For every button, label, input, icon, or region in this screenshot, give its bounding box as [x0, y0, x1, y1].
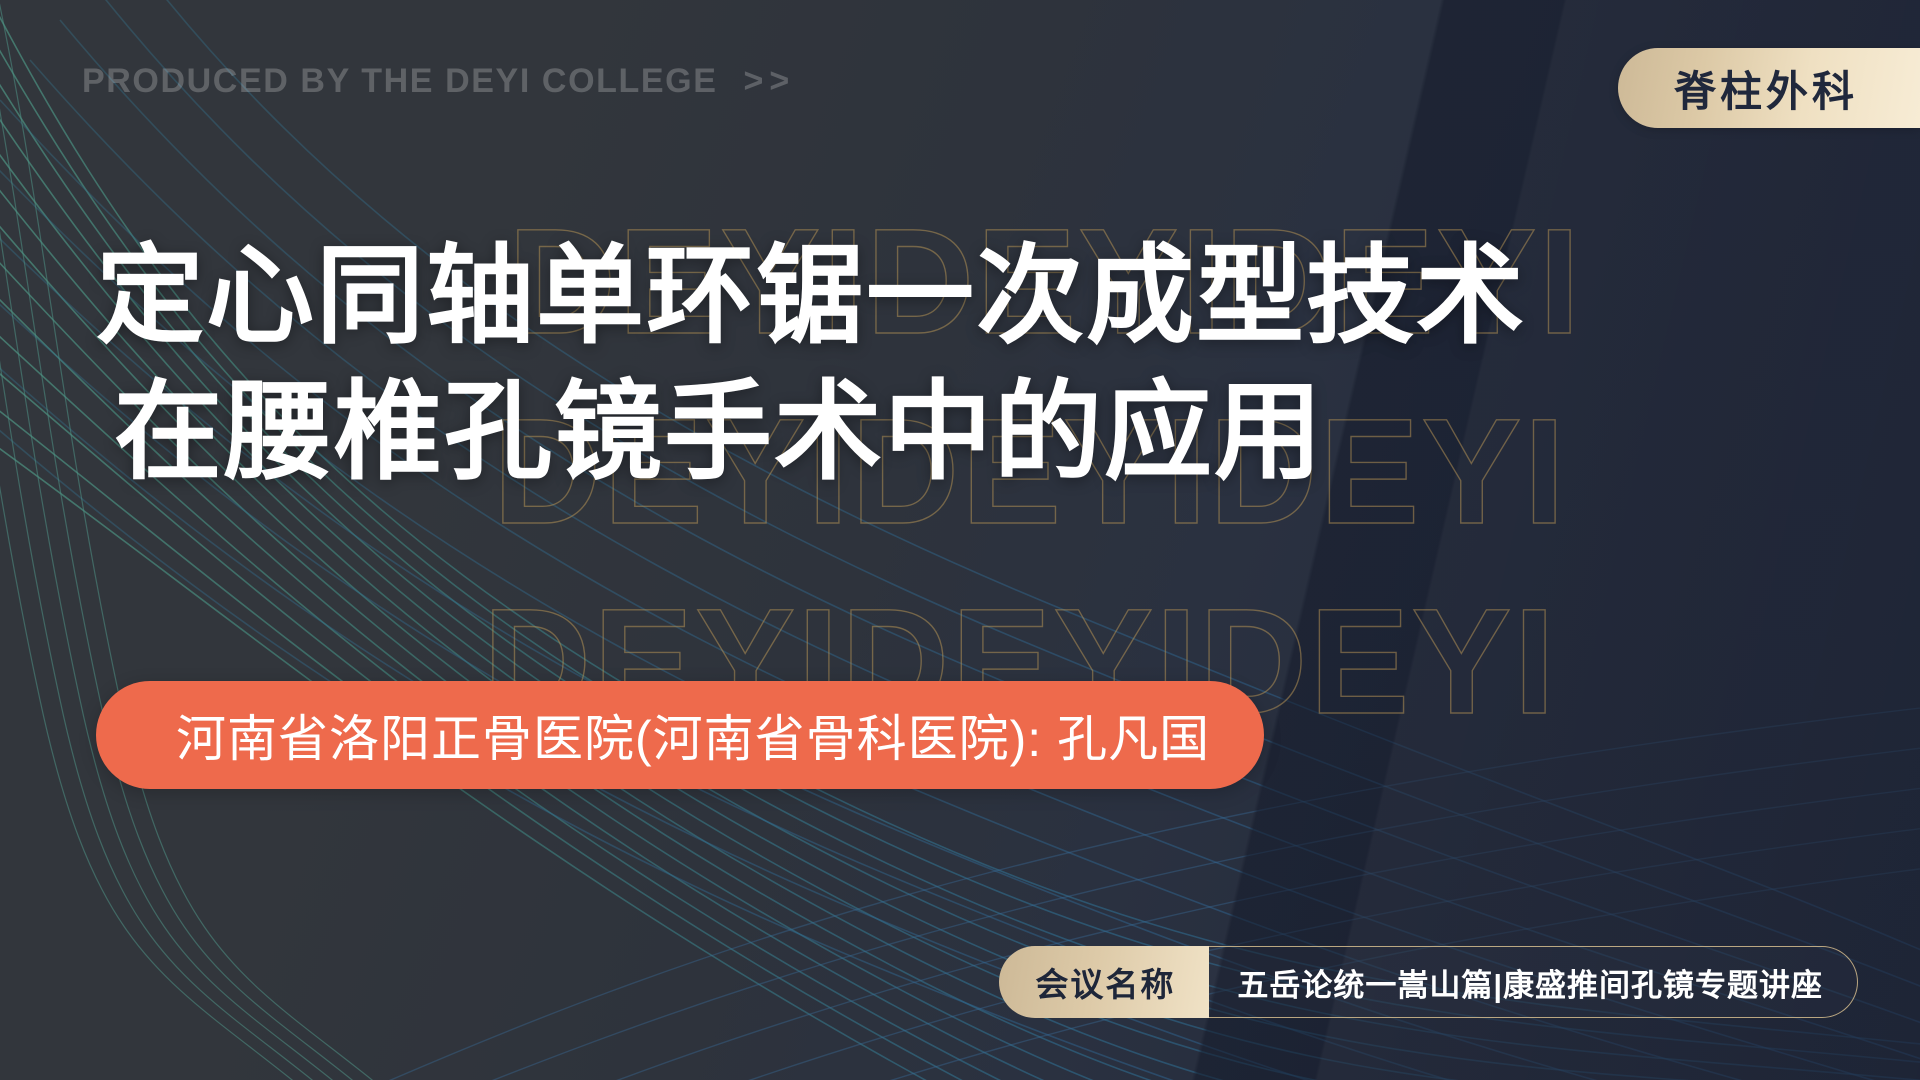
conference-label: 会议名称: [999, 946, 1209, 1018]
presenter-pill: 河南省洛阳正骨医院(河南省骨科医院): 孔凡国: [96, 681, 1264, 789]
presentation-slide: DEYIDEYIDEYI DEYIDEYIDEYI DEYIDEYIDEYI P…: [0, 0, 1920, 1080]
department-badge-label: 脊柱外科: [1674, 58, 1858, 119]
conference-name: 五岳论统一嵩山篇|康盛推间孔镜专题讲座: [1209, 946, 1858, 1018]
department-badge: 脊柱外科: [1618, 48, 1920, 128]
presenter-affiliation-name: 河南省洛阳正骨医院(河南省骨科医院): 孔凡国: [176, 699, 1210, 771]
title-line-1: 定心同轴单环锯一次成型技术: [96, 228, 1780, 364]
background-line-pattern: [0, 0, 1920, 1080]
title-line-2: 在腰椎孔镜手术中的应用: [96, 364, 1780, 500]
produced-by-label: PRODUCED BY THE DEYI COLLEGE: [82, 62, 717, 100]
conference-bar: 会议名称 五岳论统一嵩山篇|康盛推间孔镜专题讲座: [999, 946, 1858, 1018]
produced-by-text: PRODUCED BY THE DEYI COLLEGE>>: [82, 62, 795, 101]
page-title: 定心同轴单环锯一次成型技术 在腰椎孔镜手术中的应用: [0, 228, 1920, 500]
chevron-double-right-icon: >>: [743, 62, 795, 100]
